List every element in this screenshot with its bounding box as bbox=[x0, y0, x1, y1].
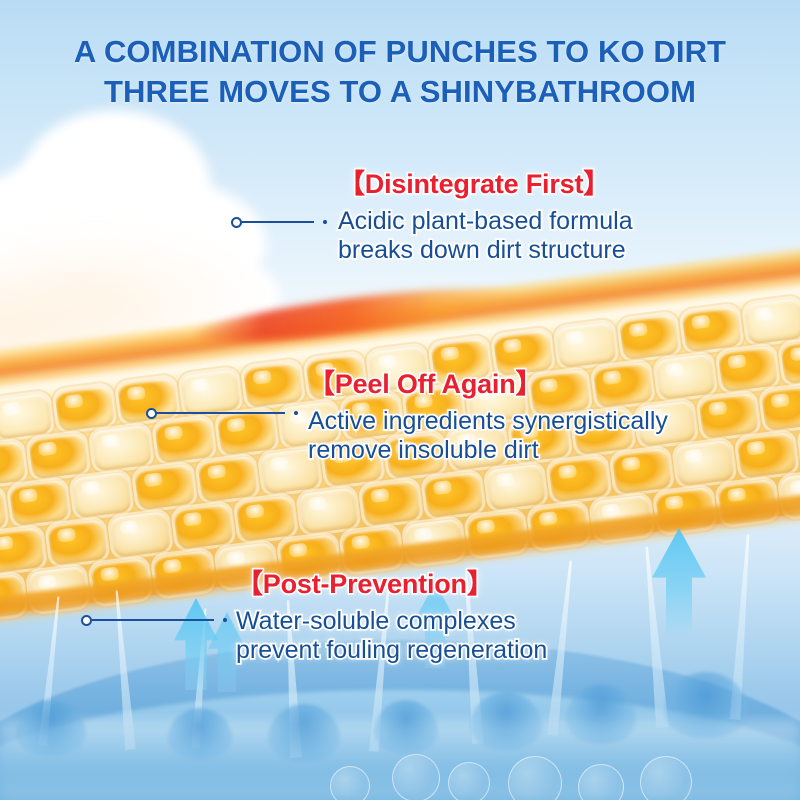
connector-dot-icon bbox=[223, 618, 227, 622]
step-2-body-line-1: Active ingredients synergistically bbox=[308, 407, 668, 436]
connector-circle-icon bbox=[231, 217, 242, 228]
connector-stem bbox=[92, 619, 214, 621]
connector-stem bbox=[242, 221, 314, 223]
connector-stem bbox=[157, 412, 285, 414]
title-line-1: A COMBINATION OF PUNCHES TO KO DIRT bbox=[0, 32, 800, 72]
step-block-1: 【Disintegrate First】 Acidic plant-based … bbox=[338, 162, 633, 265]
step-3-body-line-2: prevent fouling regeneration bbox=[236, 636, 547, 665]
step-2-body-line-2: remove insoluble dirt bbox=[308, 436, 668, 465]
page-title: A COMBINATION OF PUNCHES TO KO DIRT THRE… bbox=[0, 32, 800, 113]
connector-circle-icon bbox=[81, 615, 92, 626]
connector-line-3 bbox=[81, 613, 234, 627]
connector-dot-icon bbox=[294, 411, 298, 415]
poster-content: A COMBINATION OF PUNCHES TO KO DIRT THRE… bbox=[0, 0, 800, 800]
connector-line-2 bbox=[146, 406, 306, 420]
connector-circle-icon bbox=[146, 408, 157, 419]
connector-line-1 bbox=[231, 215, 336, 229]
title-line-2: THREE MOVES TO A SHINYBATHROOM bbox=[0, 72, 800, 112]
connector-dot-icon bbox=[323, 220, 327, 224]
step-block-3: 【Post-Prevention】 Water-soluble complexe… bbox=[236, 562, 547, 665]
step-2-body: Active ingredients synergistically remov… bbox=[308, 407, 668, 465]
step-3-body-line-1: Water-soluble complexes bbox=[236, 607, 547, 636]
product-infographic-poster: A COMBINATION OF PUNCHES TO KO DIRT THRE… bbox=[0, 0, 800, 800]
step-block-2: 【Peel Off Again】 Active ingredients syne… bbox=[308, 362, 668, 465]
step-1-heading: 【Disintegrate First】 bbox=[338, 162, 633, 201]
step-2-heading: 【Peel Off Again】 bbox=[308, 362, 668, 401]
step-1-body: Acidic plant-based formula breaks down d… bbox=[338, 207, 633, 265]
step-1-body-line-1: Acidic plant-based formula bbox=[338, 207, 633, 236]
step-3-heading: 【Post-Prevention】 bbox=[236, 562, 547, 601]
step-3-body: Water-soluble complexes prevent fouling … bbox=[236, 607, 547, 665]
step-1-body-line-2: breaks down dirt structure bbox=[338, 236, 633, 265]
